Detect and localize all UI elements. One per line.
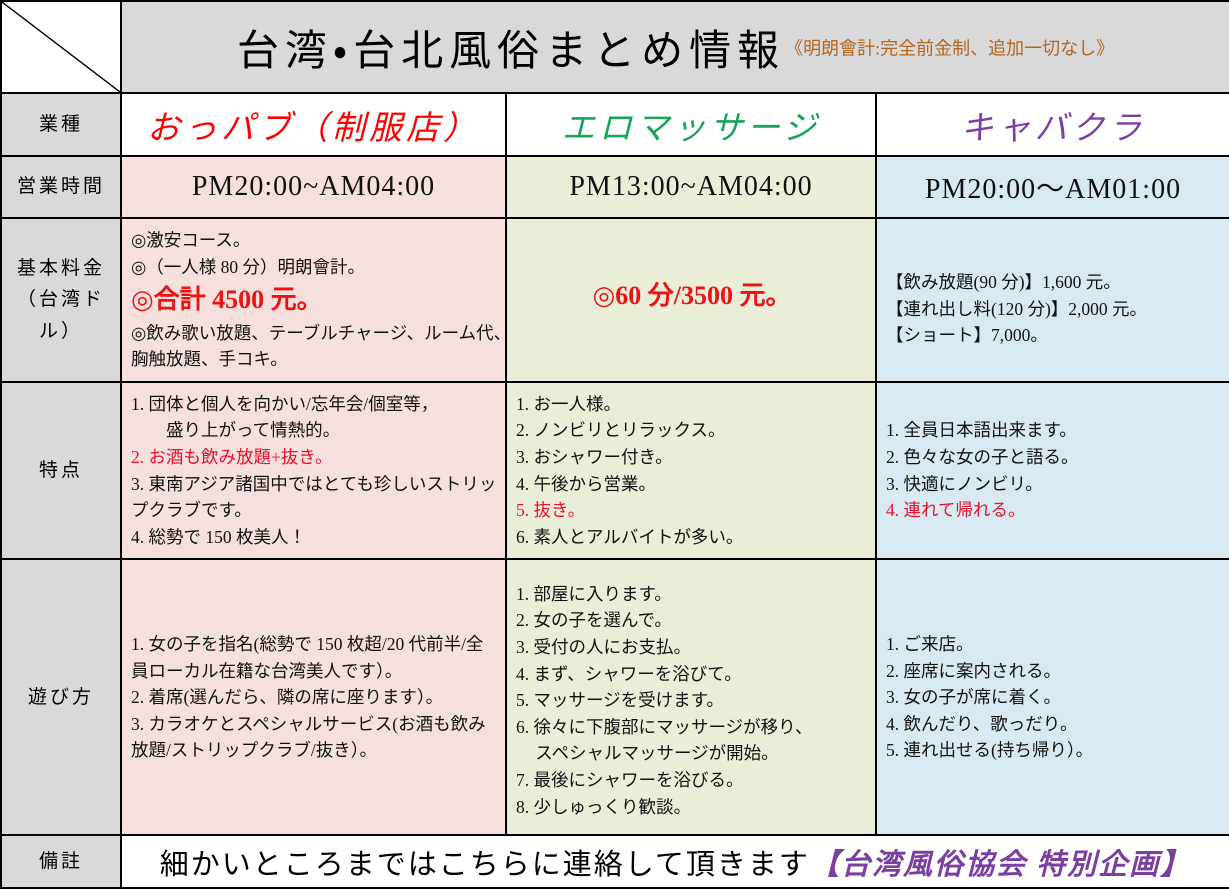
text-line: 1. 部屋に入ります。 [516,581,868,608]
text-line: 【連れ出し料(120 分)】2,000 元。 [886,296,1222,323]
text-line: 2. 座席に案内される。 [886,658,1222,685]
price-col2-lines: ◎60 分/3500 元。 [507,276,875,324]
text-line: 4. まず、シャワーを浴びて。 [516,661,868,688]
text-line: ◎飲み歌い放題、テーブルチャージ、ルーム代、 [131,320,498,347]
price-col1-lines: ◎激安コース。◎（一人様 80 分）明朗會計。◎合計 4500 元。◎飲み歌い放… [122,219,505,381]
text-line: 6. 徐々に下腹部にマッサージが移り、 [516,714,868,741]
features-col2-lines: 1. お一人様。2. ノンビリとリラックス。3. おシャワー付き。4. 午後から… [507,383,875,559]
features-col1: 1. 団体と個人を向かい/忘年会/個室等，盛り上がって情熱的。2. お酒も飲み放… [121,382,506,560]
hours-col3: PM20:00〜AM01:00 [876,156,1229,218]
features-col2: 1. お一人様。2. ノンビリとリラックス。3. おシャワー付き。4. 午後から… [506,382,876,560]
features-col3-lines: 1. 全員日本語出来ます。2. 色々な女の子と語る。3. 快適にノンビリ。4. … [877,409,1229,531]
text-line: 6. 素人とアルバイトが多い。 [516,524,868,551]
text-line: 【ショート】7,000。 [886,322,1222,349]
text-line: 4. 午後から営業。 [516,471,868,498]
price-col3-lines: 【飲み放題(90 分)】1,600 元。【連れ出し料(120 分)】2,000 … [877,243,1229,357]
text-line: 2. 色々な女の子と語る。 [886,444,1222,471]
text-line: 3. 東南アジア諸国中ではとても珍しいストリッ [131,471,498,498]
text-line: 3. 受付の人にお支払。 [516,634,868,661]
text-line: 5. 抜き。 [516,497,868,524]
text-line: 4. 飲んだり、歌っだり。 [886,711,1222,738]
text-line: プクラブです。 [131,497,498,524]
row-label-remark: 備註 [1,835,121,888]
row-label-howto: 遊び方 [1,559,121,835]
text-line: ◎60 分/3500 元。 [516,276,868,316]
text-line: 5. マッサージを受けます。 [516,687,868,714]
text-line: 3. 女の子が席に着く。 [886,684,1222,711]
howto-col2-lines: 1. 部屋に入ります。2. 女の子を選んで。3. 受付の人にお支払。4. まず、… [507,567,875,828]
text-line: 3. カラオケとスペシャルサービス(お酒も飲み [131,711,498,738]
text-line: 盛り上がって情熱的。 [131,417,498,444]
text-line: ◎激安コース。 [131,227,498,254]
hours-col1: PM20:00~AM04:00 [121,156,506,218]
hours-col2: PM13:00~AM04:00 [506,156,876,218]
text-line: 1. お一人様。 [516,391,868,418]
text-line: 1. 女の子を指名(総勢で 150 枚超/20 代前半/全 [131,631,498,658]
text-line: スペシャルマッサージが開始。 [516,740,868,767]
text-line: 5. 連れ出せる(持ち帰り）。 [886,737,1222,764]
text-line: 放題/ストリップクラブ/抜き）。 [131,737,498,764]
howto-col1: 1. 女の子を指名(総勢で 150 枚超/20 代前半/全員ローカル在籍な台湾美… [121,559,506,835]
text-line: 4. 総勢で 150 枚美人！ [131,524,498,551]
text-line: 2. お酒も飲み放題+抜き。 [131,444,498,471]
row-label-price-line2: （台湾ドル） [2,284,120,347]
price-row: 基本料金 （台湾ドル） ◎激安コース。◎（一人様 80 分）明朗會計。◎合計 4… [1,218,1229,382]
howto-col3: 1. ご来店。2. 座席に案内される。3. 女の子が席に着く。4. 飲んだり、歌… [876,559,1229,835]
text-line: 1. ご来店。 [886,631,1222,658]
category-row: 業種 おっパブ（制服店） エロマッサージ キャバクラ [1,93,1229,156]
remark-row: 備註 細かいところまではこちらに連絡して頂きます【台湾風俗協会 特別企画】 [1,835,1229,888]
price-col3: 【飲み放題(90 分)】1,600 元。【連れ出し料(120 分)】2,000 … [876,218,1229,382]
category-name-col3: キャバクラ [876,93,1229,156]
text-line: ◎（一人様 80 分）明朗會計。 [131,254,498,281]
text-line: 3. おシャワー付き。 [516,444,868,471]
howto-row: 遊び方 1. 女の子を指名(総勢で 150 枚超/20 代前半/全員ローカル在籍… [1,559,1229,835]
row-label-hours: 営業時間 [1,156,121,218]
howto-col2: 1. 部屋に入ります。2. 女の子を選んで。3. 受付の人にお支払。4. まず、… [506,559,876,835]
row-label-price: 基本料金 （台湾ドル） [1,218,121,382]
remark-cell: 細かいところまではこちらに連絡して頂きます【台湾風俗協会 特別企画】 [121,835,1229,888]
text-line: 2. 女の子を選んで。 [516,607,868,634]
remark-highlight: 【台湾風俗協会 特別企画】 [810,849,1191,881]
features-row: 特点 1. 団体と個人を向かい/忘年会/個室等，盛り上がって情熱的。2. お酒も… [1,382,1229,560]
remark-text: 細かいところまではこちらに連絡して頂きます [160,849,810,881]
text-line: 胸触放題、手コキ。 [131,346,498,373]
diagonal-split-icon [2,2,120,92]
howto-col3-lines: 1. ご来店。2. 座席に案内される。3. 女の子が席に着く。4. 飲んだり、歌… [877,623,1229,772]
text-line: 1. 全員日本語出来ます。 [886,417,1222,444]
text-line: 【飲み放題(90 分)】1,600 元。 [886,269,1222,296]
text-line: ◎合計 4500 元。 [131,280,498,320]
text-line: 2. ノンビリとリラックス。 [516,417,868,444]
text-line: 3. 快適にノンビリ。 [886,471,1222,498]
text-line: 2. 着席(選んだら、隣の席に座ります）。 [131,684,498,711]
row-label-category: 業種 [1,93,121,156]
page-title: 台湾・台北風俗まとめ情報 [237,29,785,75]
row-label-price-line1: 基本料金 [2,253,120,284]
howto-col1-lines: 1. 女の子を指名(総勢で 150 枚超/20 代前半/全員ローカル在籍な台湾美… [122,623,505,772]
corner-diagonal-cell [1,1,121,93]
hours-row: 営業時間 PM20:00~AM04:00 PM13:00~AM04:00 PM2… [1,156,1229,218]
text-line: 4. 連れて帰れる。 [886,497,1222,524]
category-name-col1: おっパブ（制服店） [121,93,506,156]
page-subtitle: 《明朗會計:完全前金制、追加一切なし》 [785,38,1114,58]
category-name-col2: エロマッサージ [506,93,876,156]
price-comparison-sheet: 台湾・台北風俗まとめ情報《明朗會計:完全前金制、追加一切なし》 業種 おっパブ（… [0,0,1229,841]
text-line: 員ローカル在籍な台湾美人です）。 [131,658,498,685]
features-col1-lines: 1. 団体と個人を向かい/忘年会/個室等，盛り上がって情熱的。2. お酒も飲み放… [122,383,505,559]
price-col1: ◎激安コース。◎（一人様 80 分）明朗會計。◎合計 4500 元。◎飲み歌い放… [121,218,506,382]
text-line: 8. 少しゅっくり歓談。 [516,794,868,821]
row-label-features: 特点 [1,382,121,560]
features-col3: 1. 全員日本語出来ます。2. 色々な女の子と語る。3. 快適にノンビリ。4. … [876,382,1229,560]
price-col2: ◎60 分/3500 元。 [506,218,876,382]
sheet-title-cell: 台湾・台北風俗まとめ情報《明朗會計:完全前金制、追加一切なし》 [121,1,1229,93]
text-line: 7. 最後にシャワーを浴びる。 [516,767,868,794]
title-row: 台湾・台北風俗まとめ情報《明朗會計:完全前金制、追加一切なし》 [1,1,1229,93]
comparison-table: 台湾・台北風俗まとめ情報《明朗會計:完全前金制、追加一切なし》 業種 おっパブ（… [0,0,1229,889]
text-line: 1. 団体と個人を向かい/忘年会/個室等， [131,391,498,418]
